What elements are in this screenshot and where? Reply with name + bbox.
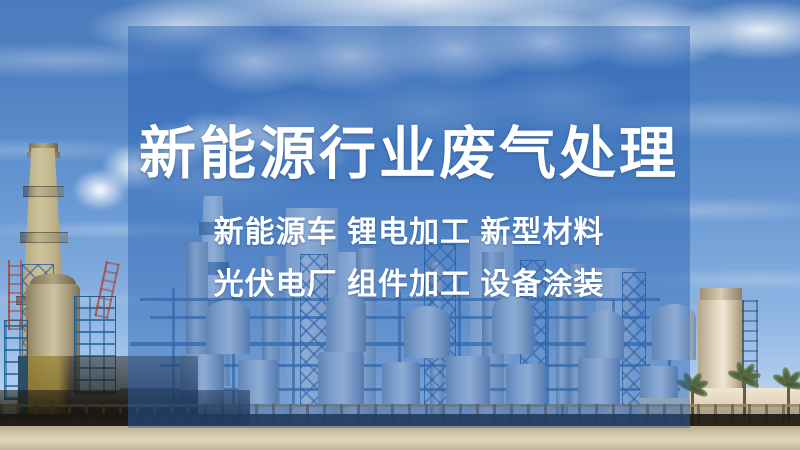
smokestack-band xyxy=(23,186,64,197)
crane-mast xyxy=(8,260,22,330)
banner-headline: 新能源行业废气处理 xyxy=(139,124,679,186)
foreground-wall xyxy=(0,426,800,450)
banner-subtitle-line-2: 光伏电厂 组件加工 设备涂装 xyxy=(214,270,605,300)
banner-image: 新能源行业废气处理 新能源车 锂电加工 新型材料 光伏电厂 组件加工 设备涂装 xyxy=(0,0,800,450)
banner-subtitle-line-1: 新能源车 锂电加工 新型材料 xyxy=(214,218,605,248)
banner-text-layer: 新能源行业废气处理 新能源车 锂电加工 新型材料 光伏电厂 组件加工 设备涂装 xyxy=(128,26,690,428)
